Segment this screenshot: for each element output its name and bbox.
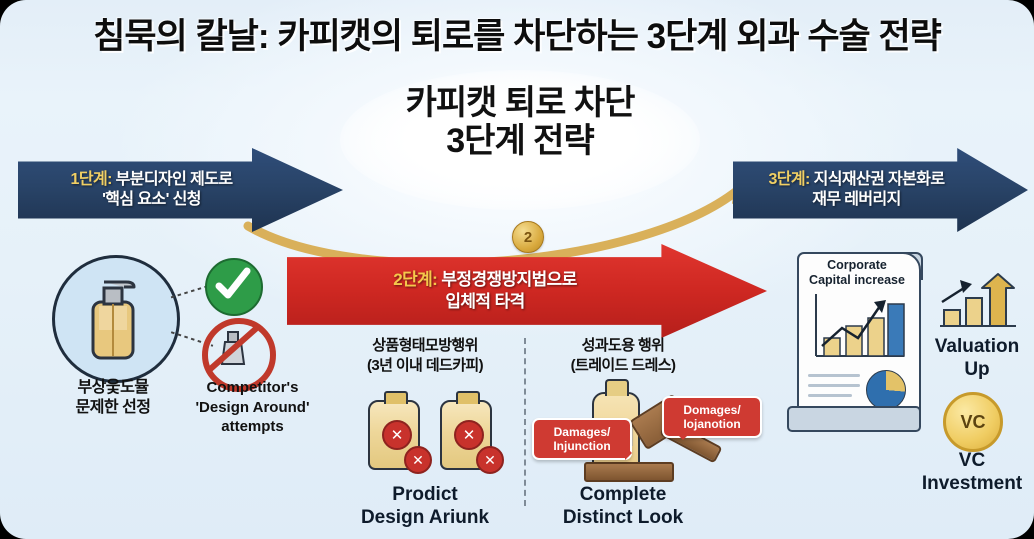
column1-footer-line2: Design Ariunk — [330, 507, 520, 530]
document-title: Corporate Capital increase — [799, 258, 915, 288]
step3-label: 3단계: 지식재산권 자본화로 재무 레버리지 — [768, 170, 944, 211]
gavel-block-icon — [584, 462, 674, 482]
document-roll-base — [787, 406, 921, 432]
column1-footer: Prodict Design Ariunk — [330, 484, 520, 530]
step1-label: 1단계: 부분디자인 제도로 '핵심 요소' 신청 — [71, 170, 233, 211]
column2-footer-line1: Complete — [528, 484, 718, 507]
document-pie-chart-icon — [866, 370, 906, 410]
step1-line2: '핵심 요소' 신청 — [71, 190, 233, 210]
column1-title: 상품형태모방행위 (3년 이내 데드카피) — [330, 336, 520, 375]
column-divider — [524, 338, 526, 506]
x-mark-4: ✕ — [476, 446, 504, 474]
column1-footer-line1: Prodict — [330, 484, 520, 507]
document-text-line-1 — [808, 374, 860, 377]
left-caption: 부상웇도뮬 문제한 선정 — [38, 378, 188, 418]
step2-label: 2단계: 부정경쟁방지법으로 입체적 타격 — [393, 269, 576, 313]
badge-right-line2: Iojanotion — [671, 417, 753, 431]
competitor-caption: Competitor's 'Design Around' attempts — [170, 378, 335, 437]
step3-line2: 재무 레버리지 — [768, 190, 944, 210]
damages-injunction-badge: Damages/ Injunction — [532, 418, 632, 460]
column2-title-line1: 성과도용 행위 — [528, 336, 718, 356]
left-caption-line1: 부상웇도뮬 — [38, 378, 188, 398]
vc-coin-icon: VC — [943, 392, 1003, 452]
check-icon — [207, 260, 257, 310]
step1-tag: 1단계: — [71, 171, 112, 188]
step2-tag: 2단계: — [393, 270, 437, 289]
column2-footer-line2: Distinct Look — [528, 507, 718, 530]
competitor-line1: Competitor's — [170, 378, 335, 398]
no-entry-icon — [208, 324, 258, 374]
column2-footer: Complete Distinct Look — [528, 484, 718, 530]
document-title-line1: Corporate — [799, 258, 915, 273]
center-headline-line1: 카피캣 퇴로 차단 — [330, 84, 710, 122]
step2-line2: 입체적 타격 — [393, 291, 576, 313]
competitor-line3: attempts — [170, 417, 335, 437]
competitor-line2: 'Design Around' — [170, 398, 335, 418]
document-bar-chart-icon — [808, 290, 908, 368]
vc-line1: VC — [910, 450, 1034, 473]
infographic-canvas: 침묵의 칼날: 카피캣의 퇴로를 차단하는 3단계 외과 수술 전략 카피캣 퇴… — [0, 0, 1034, 539]
badge-left-line1: Damages/ — [541, 425, 623, 439]
column2-title-line2: (트레이드 드레스) — [528, 356, 718, 376]
column1-title-line1: 상품형태모방행위 — [330, 336, 520, 356]
x-mark-1: ✕ — [382, 420, 412, 450]
green-check-circle — [205, 258, 263, 316]
vc-investment-label: VC Investment — [910, 450, 1034, 496]
x-mark-3: ✕ — [454, 420, 484, 450]
valuation-line1: Valuation — [920, 336, 1034, 359]
badge-right-line1: Domages/ — [671, 403, 753, 417]
curve-step-badge: 2 — [512, 221, 544, 253]
document-title-line2: Capital increase — [799, 273, 915, 288]
step3-line1: 지식재산권 자본화로 — [810, 171, 945, 188]
valuation-growth-icon — [936, 272, 1022, 332]
column1-title-line2: (3년 이내 데드카피) — [330, 356, 520, 376]
page-title: 침묵의 칼날: 카피캣의 퇴로를 차단하는 3단계 외과 수술 전략 — [0, 8, 1034, 59]
column2-title: 성과도용 행위 (트레이드 드레스) — [528, 336, 718, 375]
pump-bottle-icon — [55, 258, 171, 374]
x-mark-2: ✕ — [404, 446, 432, 474]
document-text-line-2 — [808, 384, 860, 387]
valuation-line2: Up — [920, 359, 1034, 382]
valuation-label: Valuation Up — [920, 336, 1034, 382]
vc-line2: Investment — [910, 473, 1034, 496]
product-bottle-circle — [52, 255, 180, 383]
step2-line1: 부정경쟁방지법으로 — [437, 270, 576, 289]
step1-line1: 부분디자인 제도로 — [112, 171, 233, 188]
document-text-line-3 — [808, 394, 852, 397]
badge-left-line2: Injunction — [541, 439, 623, 453]
damages-injunction-badge-2: Domages/ Iojanotion — [662, 396, 762, 438]
step3-tag: 3단계: — [768, 171, 809, 188]
left-caption-line2: 문제한 선정 — [38, 398, 188, 418]
